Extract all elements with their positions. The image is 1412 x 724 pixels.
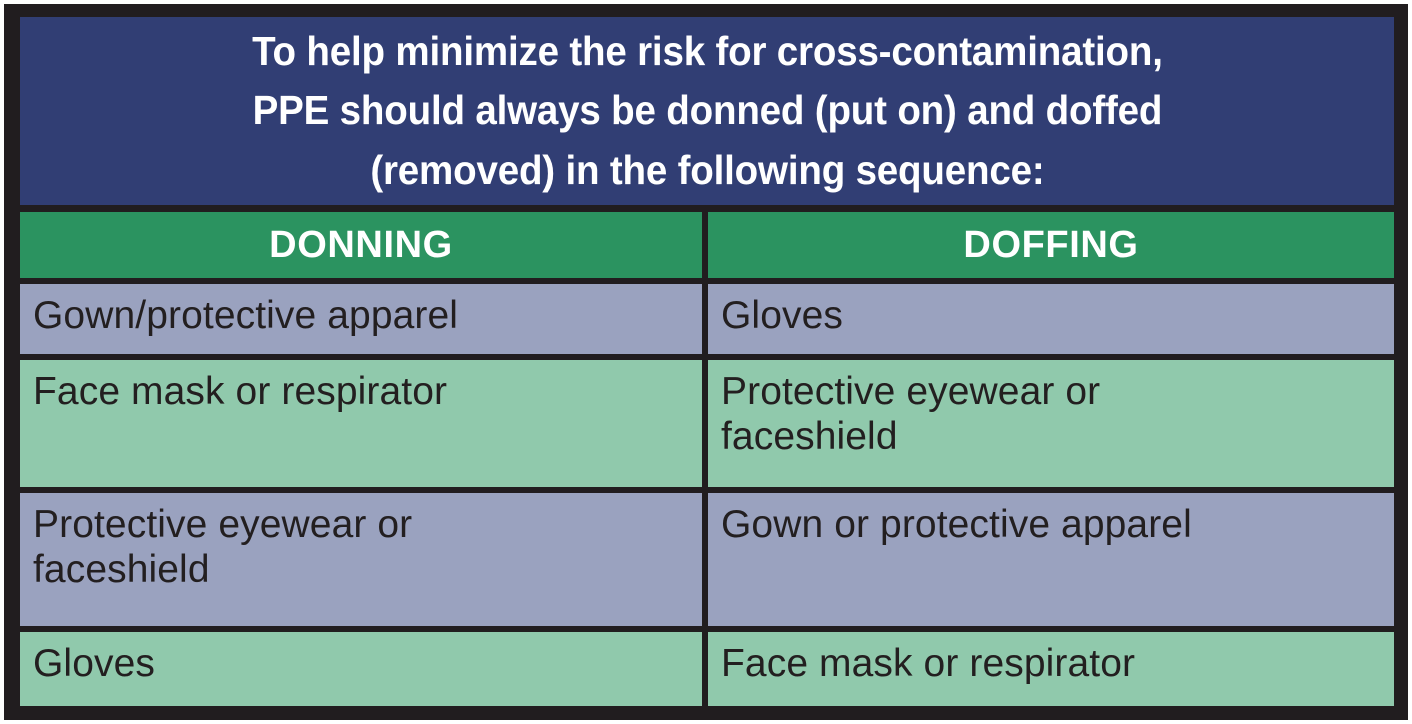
donning-cell-3: Protective eyewear or faceshield	[20, 493, 708, 632]
doffing-step-3-label: Gown or protective apparel	[708, 493, 1394, 547]
donning-cell-2: Face mask or respirator	[20, 360, 708, 493]
banner-title: To help minimize the risk for cross-cont…	[252, 22, 1163, 200]
ppe-sequence-table: DONNING DOFFING Gown/protective apparel …	[20, 212, 1394, 706]
table-header: DONNING DOFFING	[20, 212, 1394, 284]
table-row: Gown/protective apparel Gloves	[20, 284, 1394, 360]
table-header-row: DONNING DOFFING	[20, 212, 1394, 284]
ppe-sequence-figure: To help minimize the risk for cross-cont…	[4, 4, 1408, 720]
table-row: Protective eyewear or faceshield Gown or…	[20, 493, 1394, 632]
column-header-doffing: DOFFING	[708, 212, 1394, 284]
figure-banner: To help minimize the risk for cross-cont…	[20, 17, 1394, 205]
donning-step-2-label: Face mask or respirator	[20, 360, 702, 414]
column-header-donning-label: DONNING	[20, 226, 702, 264]
doffing-step-4-label: Face mask or respirator	[708, 632, 1394, 686]
donning-cell-1: Gown/protective apparel	[20, 284, 708, 360]
doffing-cell-3: Gown or protective apparel	[708, 493, 1394, 632]
donning-step-1-label: Gown/protective apparel	[20, 284, 702, 338]
table-row: Face mask or respirator Protective eyewe…	[20, 360, 1394, 493]
table-row: Gloves Face mask or respirator	[20, 632, 1394, 706]
doffing-step-1-label: Gloves	[708, 284, 1394, 338]
doffing-cell-4: Face mask or respirator	[708, 632, 1394, 706]
column-header-donning: DONNING	[20, 212, 708, 284]
column-header-doffing-label: DOFFING	[708, 226, 1394, 264]
doffing-step-2-label: Protective eyewear or faceshield	[708, 360, 1394, 459]
donning-step-3-label: Protective eyewear or faceshield	[20, 493, 702, 592]
table-body: Gown/protective apparel Gloves Face mask…	[20, 284, 1394, 706]
doffing-cell-2: Protective eyewear or faceshield	[708, 360, 1394, 493]
donning-cell-4: Gloves	[20, 632, 708, 706]
doffing-cell-1: Gloves	[708, 284, 1394, 360]
donning-step-4-label: Gloves	[20, 632, 702, 686]
